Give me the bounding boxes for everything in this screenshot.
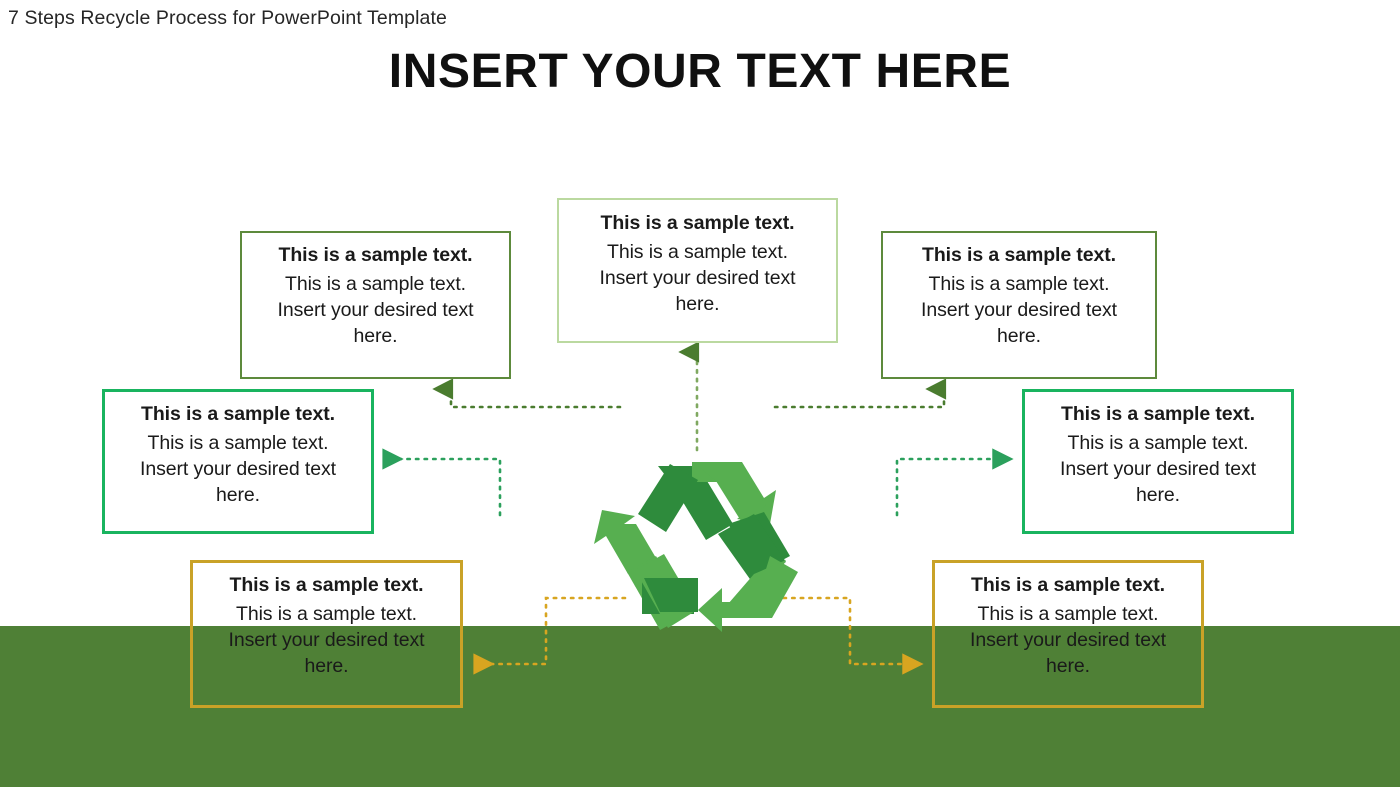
- sample-text-box-upper-right[interactable]: This is a sample text. This is a sample …: [881, 231, 1157, 379]
- header-label: 7 Steps Recycle Process for PowerPoint T…: [8, 7, 447, 30]
- box-heading: This is a sample text.: [254, 243, 497, 269]
- box-line-2: This is a sample text.: [117, 431, 359, 457]
- box-line-2: This is a sample text.: [254, 272, 497, 298]
- box-line-4: here.: [571, 292, 824, 318]
- page-title: INSERT YOUR TEXT HERE: [0, 44, 1400, 99]
- box-line-3: Insert your desired text: [895, 298, 1143, 324]
- box-line-2: This is a sample text.: [571, 240, 824, 266]
- recycle-arrow-left: [594, 510, 698, 630]
- connector-mid-right: [897, 459, 1011, 515]
- box-line-3: Insert your desired text: [205, 628, 448, 654]
- box-line-3: Insert your desired text: [571, 266, 824, 292]
- box-heading: This is a sample text.: [205, 573, 448, 599]
- sample-text-box-top-center[interactable]: This is a sample text. This is a sample …: [557, 198, 838, 343]
- box-line-4: here.: [117, 483, 359, 509]
- box-line-4: here.: [895, 324, 1143, 350]
- connector-mid-left: [385, 459, 500, 515]
- box-heading: This is a sample text.: [571, 211, 824, 237]
- box-line-4: here.: [947, 654, 1189, 680]
- connector-upper-left: [451, 389, 620, 407]
- box-line-3: Insert your desired text: [117, 457, 359, 483]
- box-line-2: This is a sample text.: [205, 602, 448, 628]
- sample-text-box-upper-left[interactable]: This is a sample text. This is a sample …: [240, 231, 511, 379]
- sample-text-box-middle-left[interactable]: This is a sample text. This is a sample …: [102, 389, 374, 534]
- box-heading: This is a sample text.: [1037, 402, 1279, 428]
- sample-text-box-middle-right[interactable]: This is a sample text. This is a sample …: [1022, 389, 1294, 534]
- box-line-2: This is a sample text.: [895, 272, 1143, 298]
- connector-upper-right: [775, 389, 944, 407]
- box-heading: This is a sample text.: [117, 402, 359, 428]
- sample-text-box-bottom-right[interactable]: This is a sample text. This is a sample …: [932, 560, 1204, 708]
- recycle-symbol-icon: [594, 452, 806, 640]
- box-line-2: This is a sample text.: [1037, 431, 1279, 457]
- box-line-3: Insert your desired text: [254, 298, 497, 324]
- box-line-4: here.: [205, 654, 448, 680]
- box-line-2: This is a sample text.: [947, 602, 1189, 628]
- box-line-3: Insert your desired text: [947, 628, 1189, 654]
- box-heading: This is a sample text.: [947, 573, 1189, 599]
- box-line-4: here.: [1037, 483, 1279, 509]
- slide-canvas: 7 Steps Recycle Process for PowerPoint T…: [0, 0, 1400, 787]
- box-line-4: here.: [254, 324, 497, 350]
- box-line-3: Insert your desired text: [1037, 457, 1279, 483]
- sample-text-box-bottom-left[interactable]: This is a sample text. This is a sample …: [190, 560, 463, 708]
- box-heading: This is a sample text.: [895, 243, 1143, 269]
